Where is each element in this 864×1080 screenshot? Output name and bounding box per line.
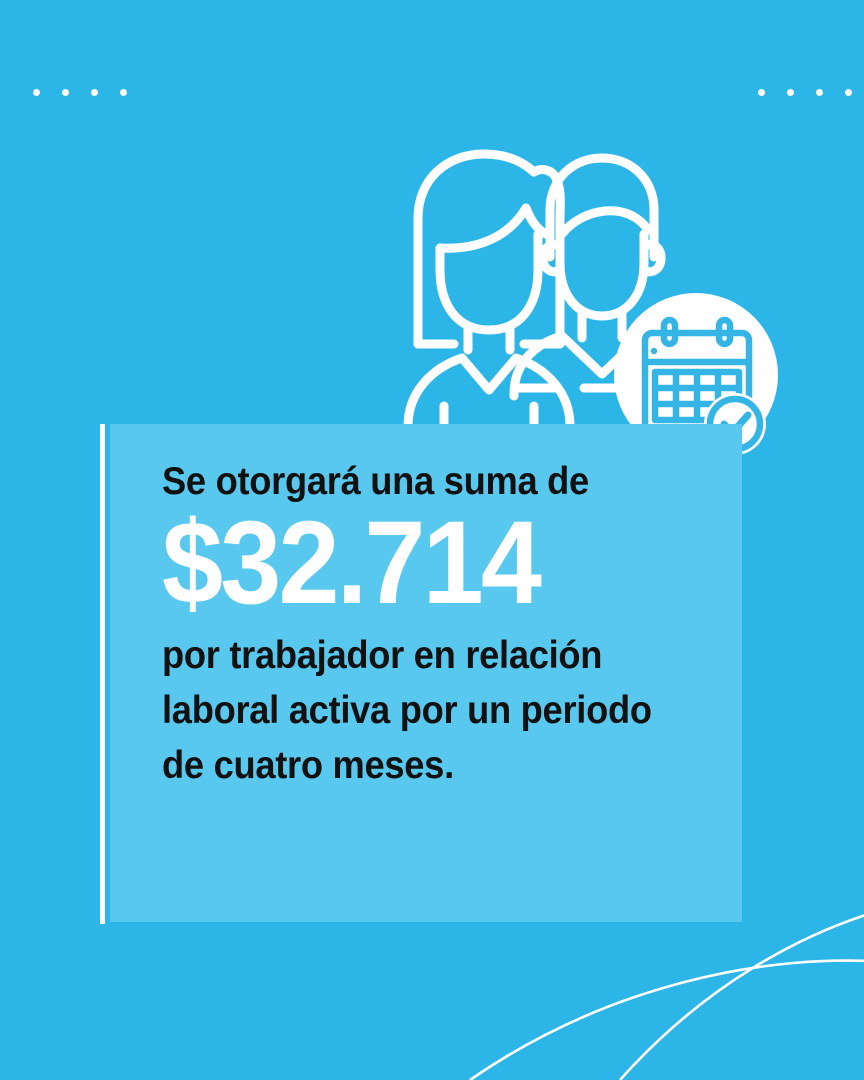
corner-arc-lower	[470, 961, 864, 1080]
left-accent-bar	[100, 424, 105, 924]
dot-icon	[33, 89, 40, 96]
workers-calendar-illustration	[396, 138, 786, 468]
dot-icon	[845, 89, 852, 96]
text-block: Se otorgará una suma de $32.714 por trab…	[162, 462, 722, 794]
calendar-dot-a	[651, 348, 657, 354]
body-copy: por trabajador en relación laboral activ…	[162, 628, 720, 794]
dot-icon	[787, 89, 794, 96]
body-copy-line: laboral activa por un periodo	[162, 683, 720, 738]
body-copy-line: por trabajador en relación	[162, 628, 720, 683]
decorative-dots-right	[758, 89, 852, 96]
corner-arc-upper	[620, 905, 864, 1080]
dot-icon	[758, 89, 765, 96]
body-copy-line: de cuatro meses.	[162, 738, 720, 793]
lead-line: Se otorgará una suma de	[162, 462, 683, 501]
man-face-outline	[560, 234, 644, 316]
dot-icon	[91, 89, 98, 96]
man-hair-swoosh	[562, 211, 648, 234]
decorative-dots-left	[33, 89, 127, 96]
dot-icon	[816, 89, 823, 96]
infographic-canvas: Se otorgará una suma de $32.714 por trab…	[0, 0, 864, 1080]
dot-icon	[120, 89, 127, 96]
amount-value: $32.714	[162, 509, 683, 618]
dot-icon	[62, 89, 69, 96]
